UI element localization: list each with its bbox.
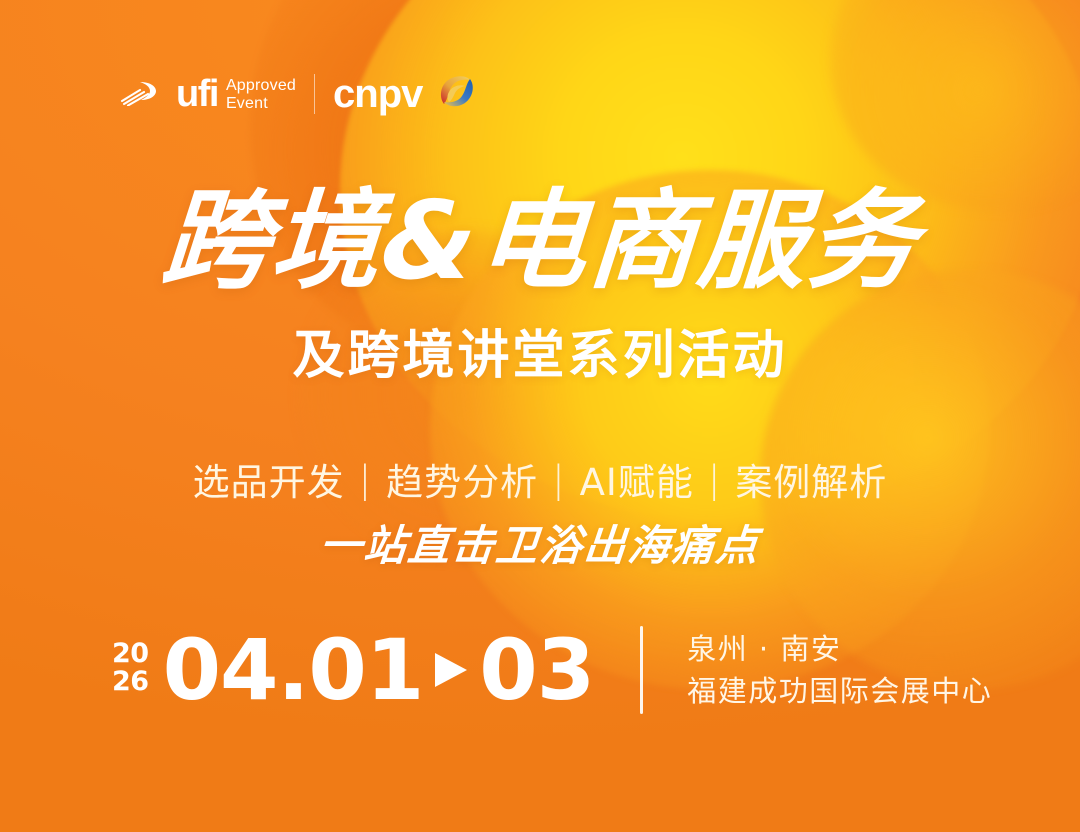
- tagline: 一站直击卫浴出海痛点: [0, 512, 1080, 573]
- tag-separator: |: [552, 458, 565, 501]
- event-date-end: 03: [479, 628, 594, 712]
- topic-tag: AI赋能: [580, 452, 694, 506]
- ufi-swoosh-icon: [120, 76, 168, 111]
- ufi-logo: ufi Approved Event: [120, 75, 296, 113]
- topic-tag-strip: 选品开发 | 趋势分析 | AI赋能 | 案例解析: [0, 452, 1080, 506]
- event-date-range: 04.01 03: [163, 628, 595, 712]
- ufi-qualifier-line2: Event: [226, 95, 296, 112]
- cnpv-wordmark: cnpv: [333, 74, 422, 114]
- event-year: 20 26: [112, 640, 149, 699]
- event-footer: 20 26 04.01 03 泉州 · 南安 福建成功国际会展中心: [112, 626, 992, 714]
- event-year-top: 20: [112, 640, 149, 668]
- ufi-qualifier-line1: Approved: [226, 77, 296, 94]
- topic-tag: 案例解析: [735, 452, 887, 506]
- topic-tag: 选品开发: [193, 452, 345, 506]
- logo-row: ufi Approved Event cnpv: [120, 68, 480, 119]
- ufi-qualifier: Approved Event: [226, 75, 296, 112]
- event-date-start: 04.01: [163, 628, 424, 712]
- page-title: 跨境&电商服务: [0, 186, 1080, 298]
- ufi-wordmark: ufi: [176, 75, 218, 113]
- footer-divider: [640, 626, 643, 714]
- logo-divider: [314, 74, 315, 114]
- cnpv-logo: cnpv: [333, 68, 480, 119]
- page-subtitle: 及跨境讲堂系列活动: [0, 328, 1080, 385]
- triangle-right-icon: [435, 653, 467, 687]
- cnpv-swirl-icon: [434, 68, 480, 119]
- tag-separator: |: [708, 458, 721, 501]
- venue-city: 泉州 · 南安: [687, 632, 992, 666]
- topic-tag: 趋势分析: [386, 452, 538, 506]
- event-banner: ufi Approved Event cnpv: [0, 0, 1080, 832]
- venue-name: 福建成功国际会展中心: [687, 674, 992, 708]
- tag-separator: |: [359, 458, 372, 501]
- event-venue: 泉州 · 南安 福建成功国际会展中心: [687, 632, 992, 708]
- event-year-bottom: 26: [112, 668, 149, 696]
